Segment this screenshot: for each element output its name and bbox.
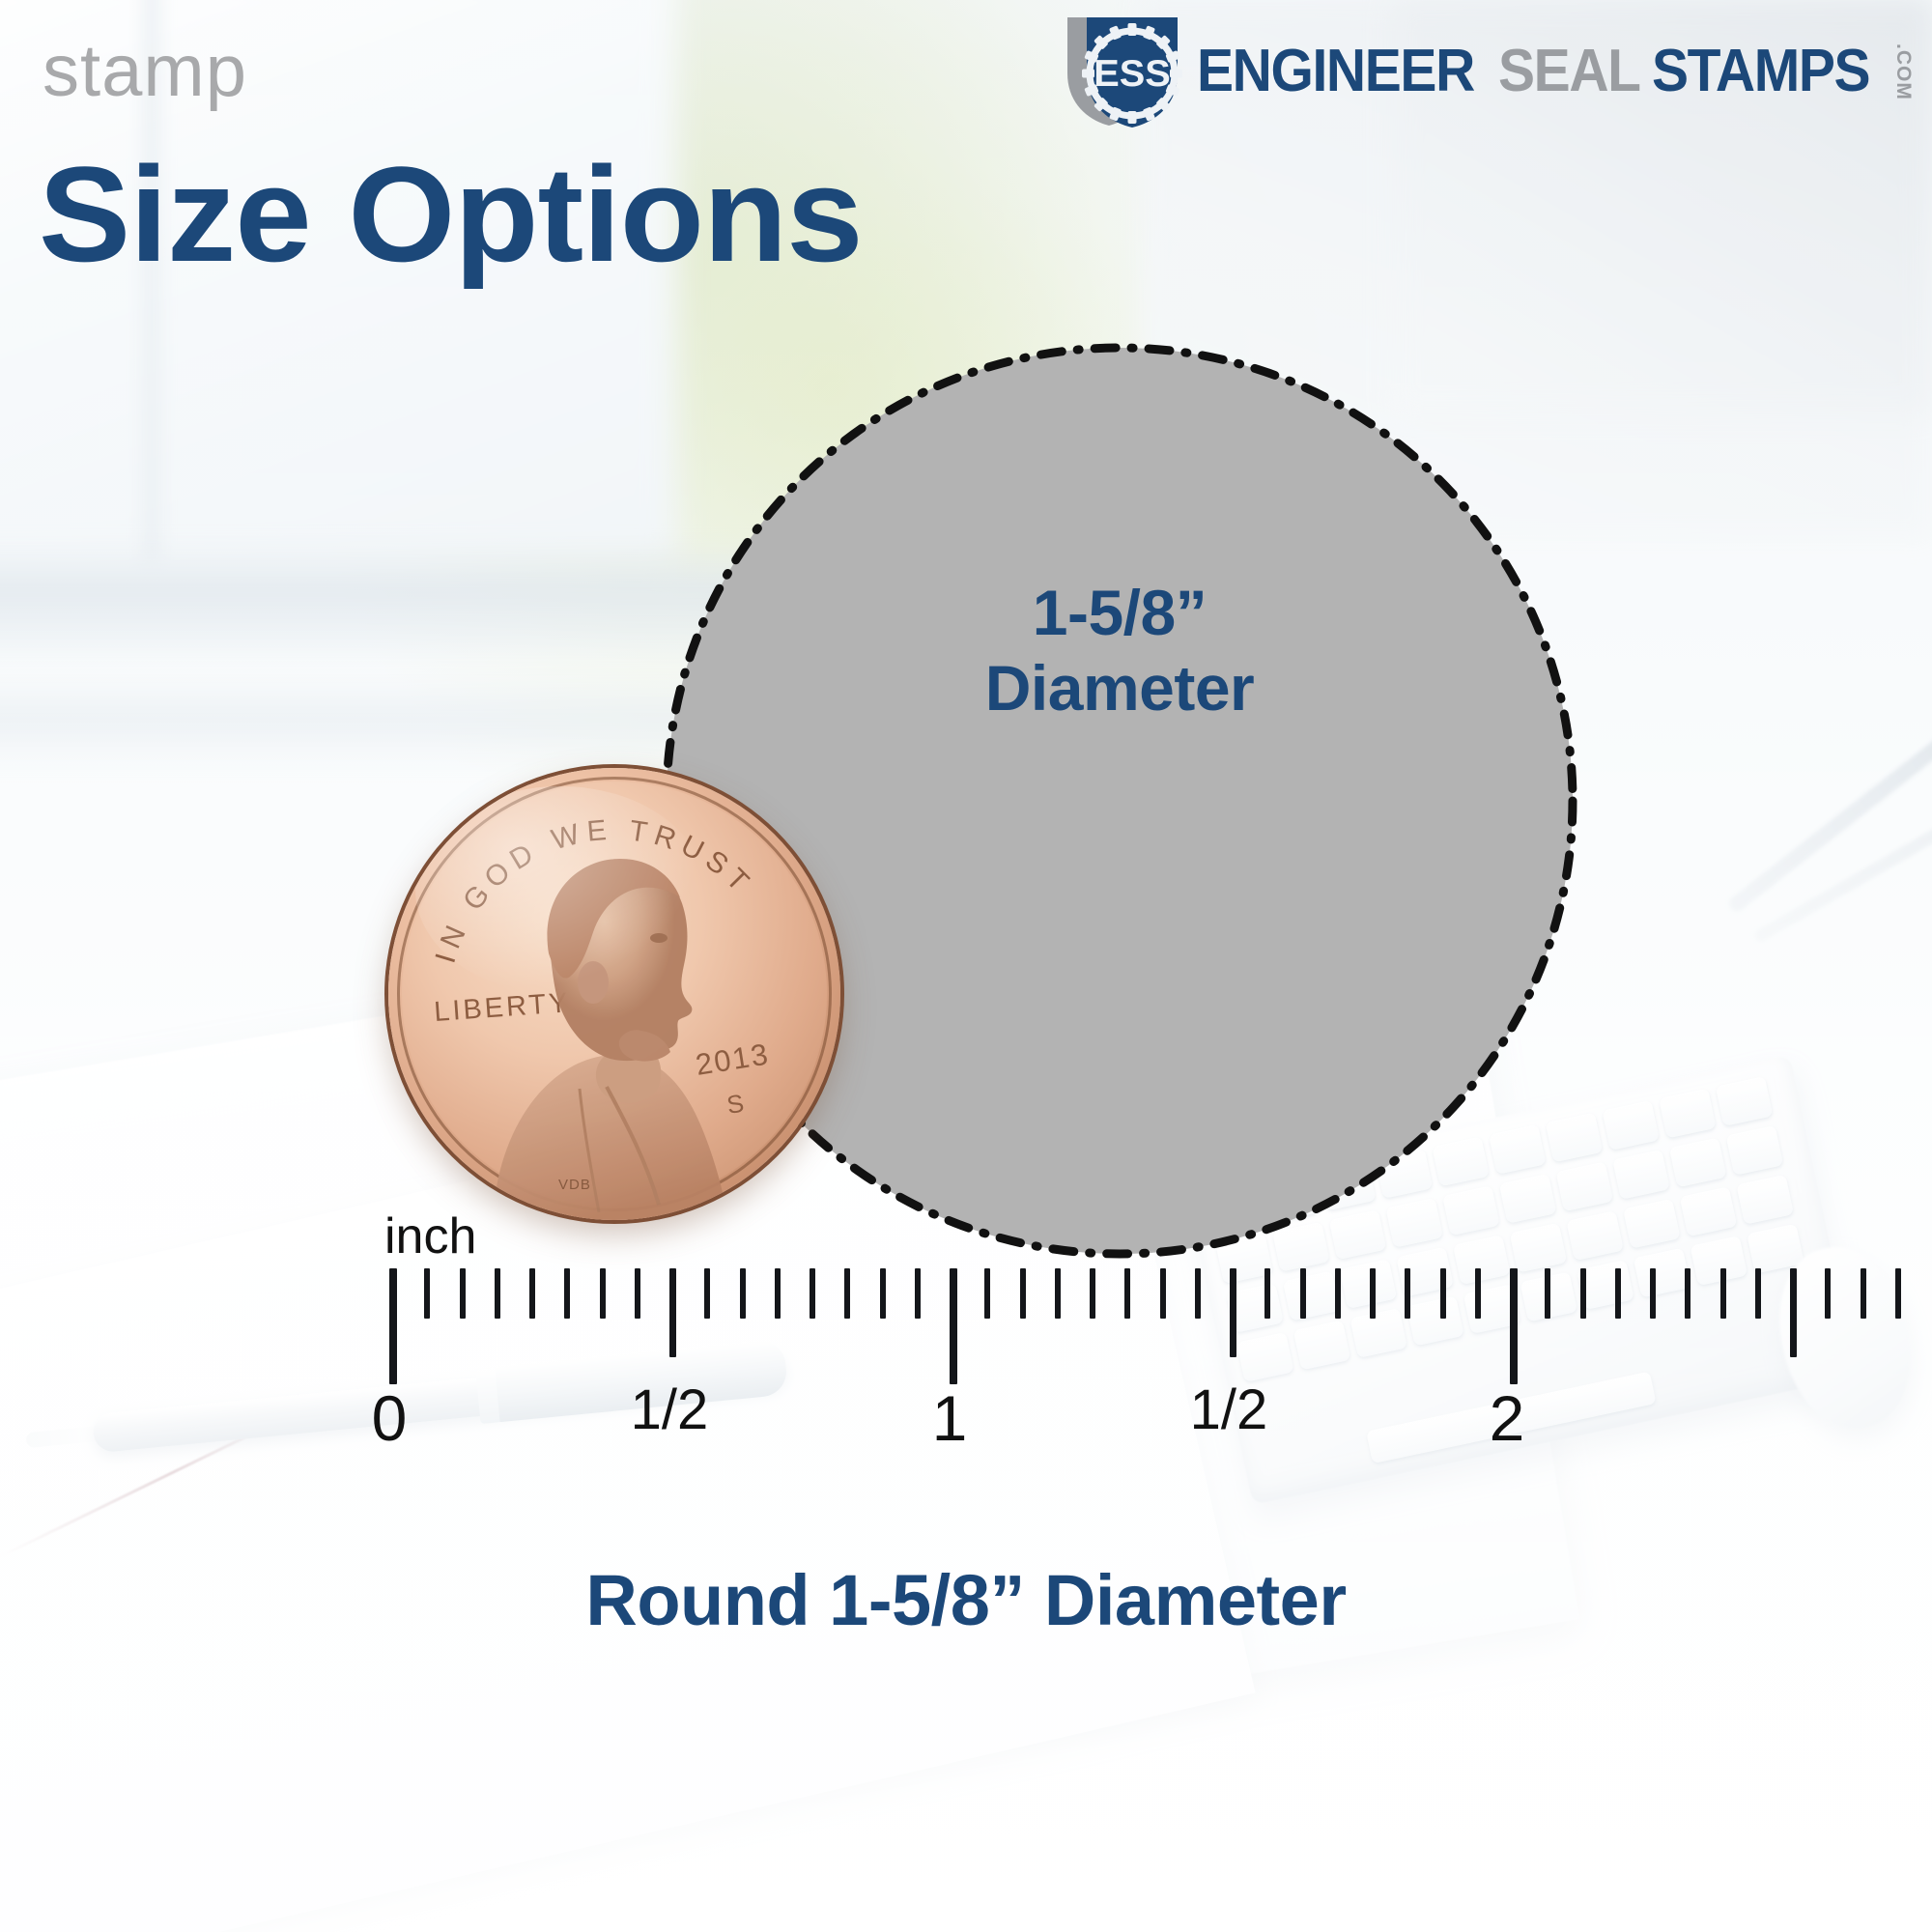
- ruler-tick-minor: [1615, 1268, 1621, 1319]
- ruler-tick-minor: [1264, 1268, 1270, 1319]
- ruler-unit-label: inch: [384, 1207, 476, 1265]
- ruler-tick-half: [669, 1268, 676, 1357]
- brand-logo[interactable]: ESS ENGINEER SEAL STAMPS .COM: [1062, 14, 1915, 129]
- ruler-tick-minor: [915, 1268, 921, 1319]
- ruler-tick-minor: [1370, 1268, 1376, 1319]
- ruler-tick-minor: [1090, 1268, 1095, 1319]
- ruler-tick-minor: [1825, 1268, 1831, 1319]
- ruler-tick-major: [1510, 1268, 1518, 1384]
- ruler-label: 1: [932, 1381, 968, 1455]
- ruler-tick-minor: [1720, 1268, 1726, 1319]
- ruler-tick-minor: [1475, 1268, 1481, 1319]
- ruler-tick-minor: [1580, 1268, 1586, 1319]
- inch-ruler: inch 01/211/22: [0, 1207, 1932, 1555]
- ruler-tick-minor: [1440, 1268, 1446, 1319]
- ruler-tick-minor: [1650, 1268, 1656, 1319]
- ruler-tick-minor: [600, 1268, 606, 1319]
- penny-relief: IN GOD WE TRUST LIBERTY 2013 S: [388, 768, 840, 1220]
- page-header: stamp Size Options: [0, 0, 1932, 164]
- ruler-tick-minor: [775, 1268, 781, 1319]
- logo-dotcom: .COM: [1891, 43, 1915, 100]
- ruler-tick-minor: [1020, 1268, 1026, 1319]
- ruler-tick-minor: [1755, 1268, 1761, 1319]
- ruler-tick-major: [950, 1268, 957, 1384]
- ruler-tick-minor: [1405, 1268, 1410, 1319]
- eyebrow-label: stamp: [43, 29, 247, 113]
- ruler-tick-minor: [460, 1268, 466, 1319]
- ruler-tick-minor: [1335, 1268, 1341, 1319]
- svg-text:S: S: [724, 1089, 746, 1120]
- ruler-tick-minor: [704, 1268, 710, 1319]
- page-title: Size Options: [39, 147, 863, 282]
- ruler-tick-minor: [529, 1268, 535, 1319]
- ruler-label: 2: [1490, 1381, 1525, 1455]
- background-pen: [1726, 724, 1932, 914]
- circle-size-value: 1-5/8”: [1033, 577, 1207, 648]
- ruler-tick-minor: [1055, 1268, 1061, 1319]
- brand-wordmark: ENGINEER SEAL STAMPS .COM: [1197, 42, 1915, 101]
- svg-text:ESS: ESS: [1094, 52, 1171, 95]
- ruler-tick-minor: [495, 1268, 500, 1319]
- penny-reference-coin: IN GOD WE TRUST LIBERTY 2013 S: [388, 768, 840, 1220]
- circle-size-label: 1-5/8” Diameter: [667, 576, 1573, 726]
- logo-word-engineer: ENGINEER: [1197, 42, 1474, 101]
- ruler-tick-minor: [1861, 1268, 1866, 1319]
- ruler-tick-minor: [635, 1268, 640, 1319]
- size-caption: Round 1-5/8” Diameter: [0, 1559, 1932, 1641]
- logo-word-seal: SEAL: [1498, 42, 1640, 101]
- svg-text:VDB: VDB: [558, 1177, 591, 1193]
- ruler-tick-minor: [844, 1268, 850, 1319]
- ruler-tick-half: [1230, 1268, 1236, 1357]
- ruler-tick-minor: [564, 1268, 570, 1319]
- ruler-tick-half: [1790, 1268, 1797, 1357]
- ruler-tick-minor: [1685, 1268, 1690, 1319]
- ruler-tick-minor: [1545, 1268, 1550, 1319]
- ruler-tick-minor: [1124, 1268, 1130, 1319]
- ruler-tick-minor: [740, 1268, 746, 1319]
- ess-shield-gear-icon: ESS: [1062, 14, 1183, 129]
- circle-size-unitword: Diameter: [667, 651, 1573, 726]
- ruler-label: 0: [372, 1381, 408, 1455]
- ruler-tick-minor: [1300, 1268, 1306, 1319]
- ruler-tick-minor: [424, 1268, 430, 1319]
- ruler-tick-minor: [810, 1268, 815, 1319]
- ruler-label: 1/2: [1190, 1378, 1268, 1442]
- size-options-graphic: stamp Size Options: [0, 0, 1932, 1932]
- svg-text:LIBERTY: LIBERTY: [433, 987, 571, 1028]
- ruler-label: 1/2: [631, 1378, 709, 1442]
- ruler-tick-minor: [1195, 1268, 1201, 1319]
- logo-word-stamps: STAMPS: [1652, 42, 1869, 101]
- ruler-tick-minor: [1160, 1268, 1166, 1319]
- ruler-tick-minor: [880, 1268, 886, 1319]
- ruler-tick-major: [389, 1268, 397, 1384]
- svg-text:2013: 2013: [694, 1037, 772, 1082]
- ruler-tick-minor: [1895, 1268, 1901, 1319]
- ruler-tick-minor: [984, 1268, 990, 1319]
